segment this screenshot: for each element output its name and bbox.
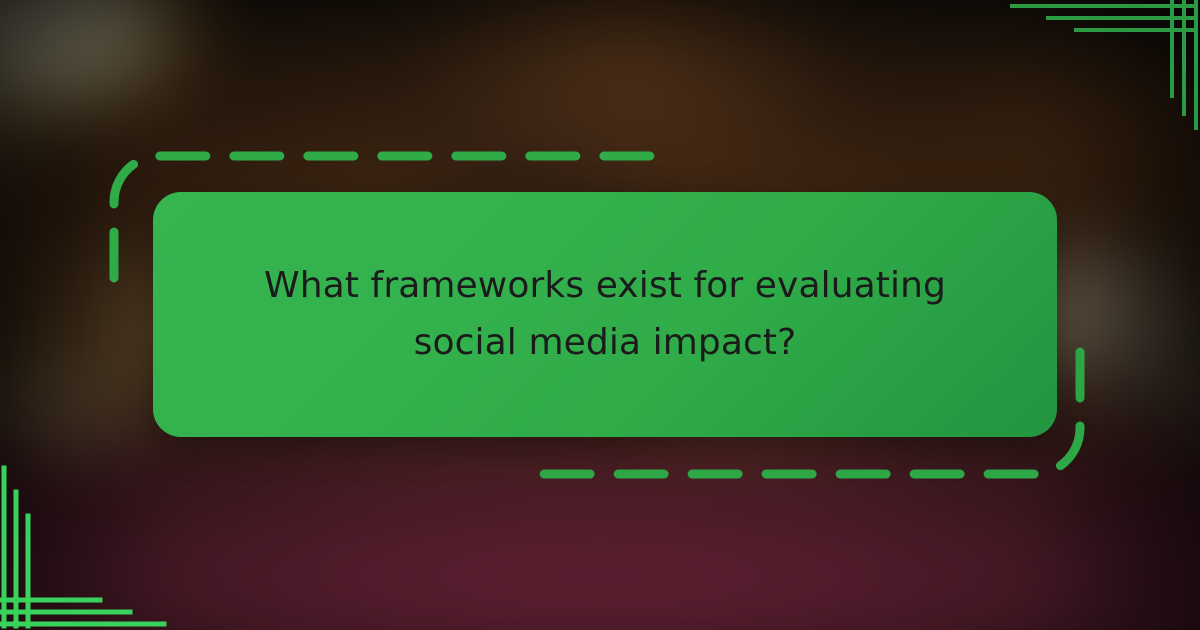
question-text: What frameworks exist for evaluating soc… [225, 258, 985, 372]
poster-canvas: What frameworks exist for evaluating soc… [0, 0, 1200, 630]
question-card: What frameworks exist for evaluating soc… [153, 192, 1057, 437]
